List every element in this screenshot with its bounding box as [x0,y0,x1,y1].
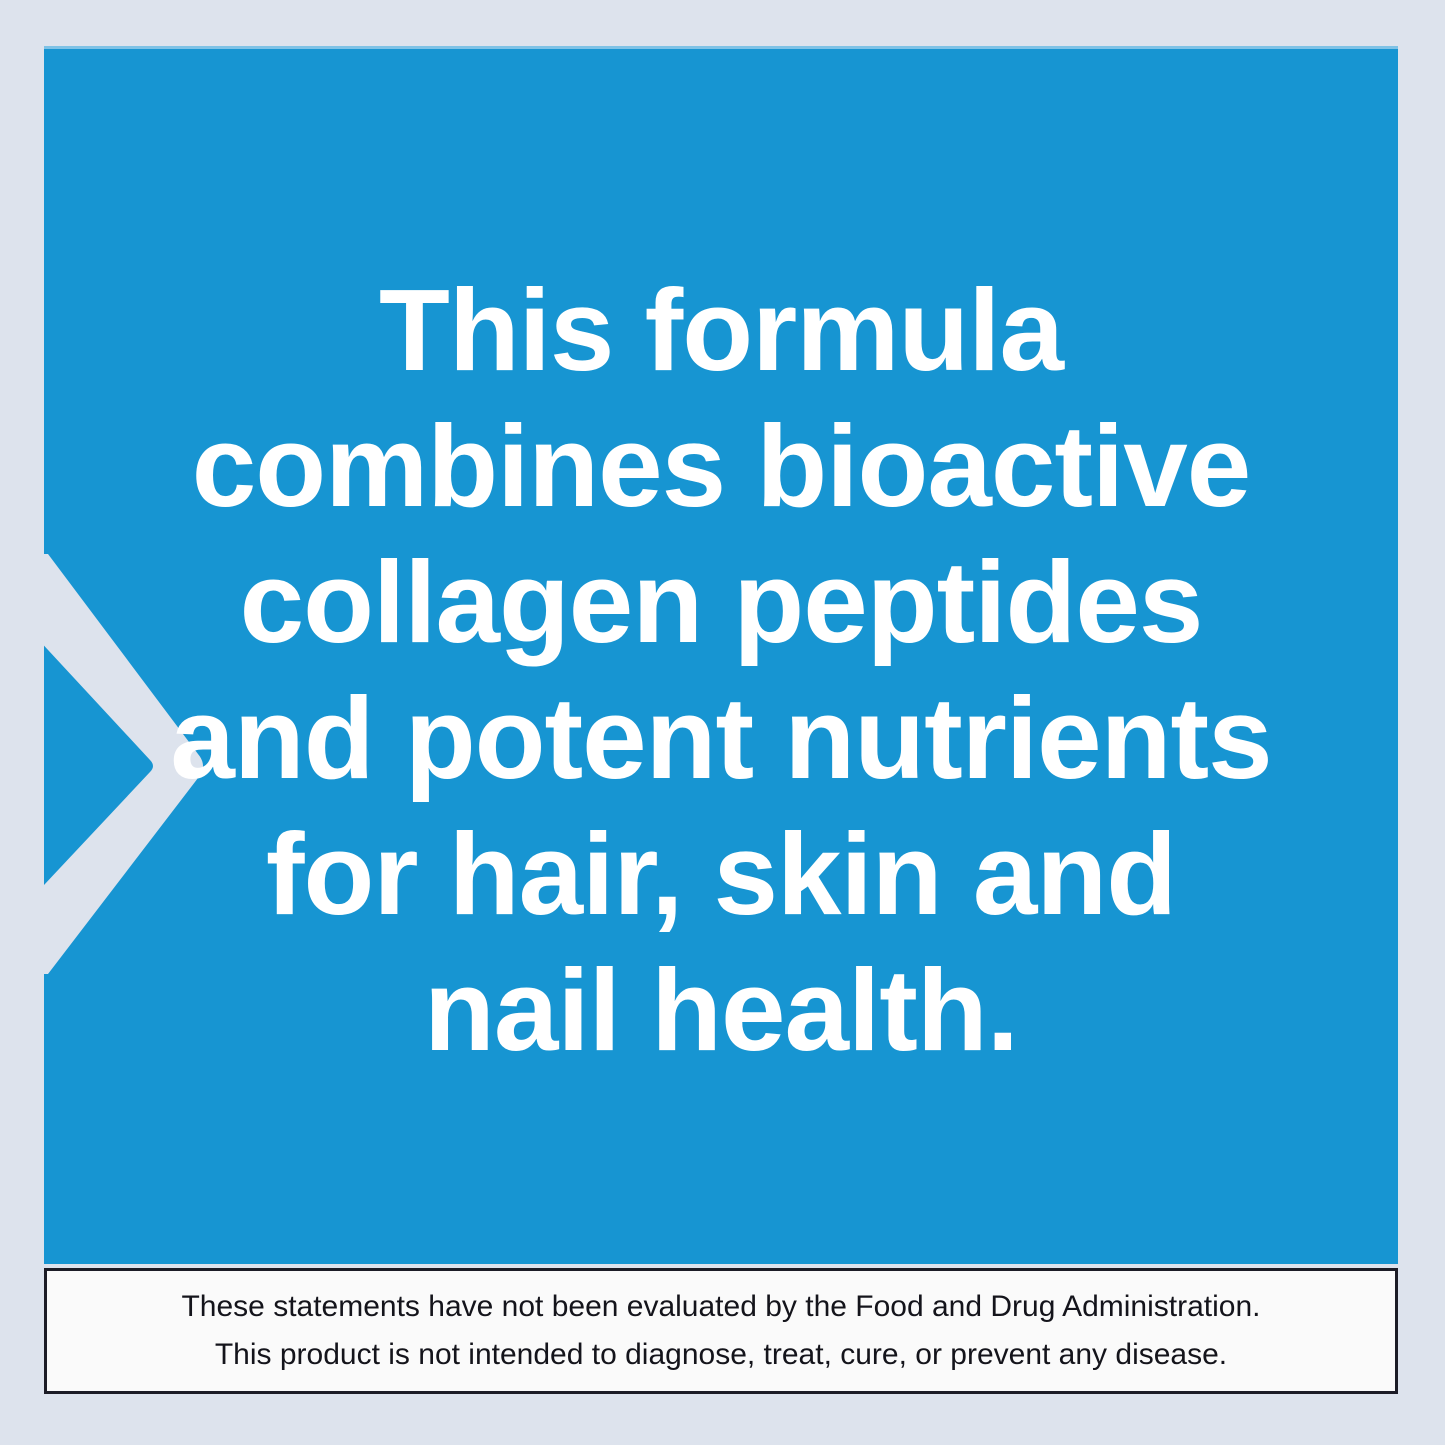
hero-panel: This formula combines bioactive collagen… [44,46,1398,1264]
headline-line: This formula [44,262,1398,398]
panel-top-highlight [44,46,1398,49]
fda-disclaimer-box: These statements have not been evaluated… [44,1268,1398,1394]
headline-line: combines bioactive [44,398,1398,534]
headline-line: and potent nutrients [44,670,1398,806]
page-title: This formula combines bioactive collagen… [44,262,1398,1078]
disclaimer-line: This product is not intended to diagnose… [215,1331,1227,1379]
product-claim-card: This formula combines bioactive collagen… [0,0,1445,1445]
disclaimer-line: These statements have not been evaluated… [181,1283,1260,1331]
headline-line: nail health. [44,942,1398,1078]
headline-line: collagen peptides [44,534,1398,670]
headline-line: for hair, skin and [44,806,1398,942]
